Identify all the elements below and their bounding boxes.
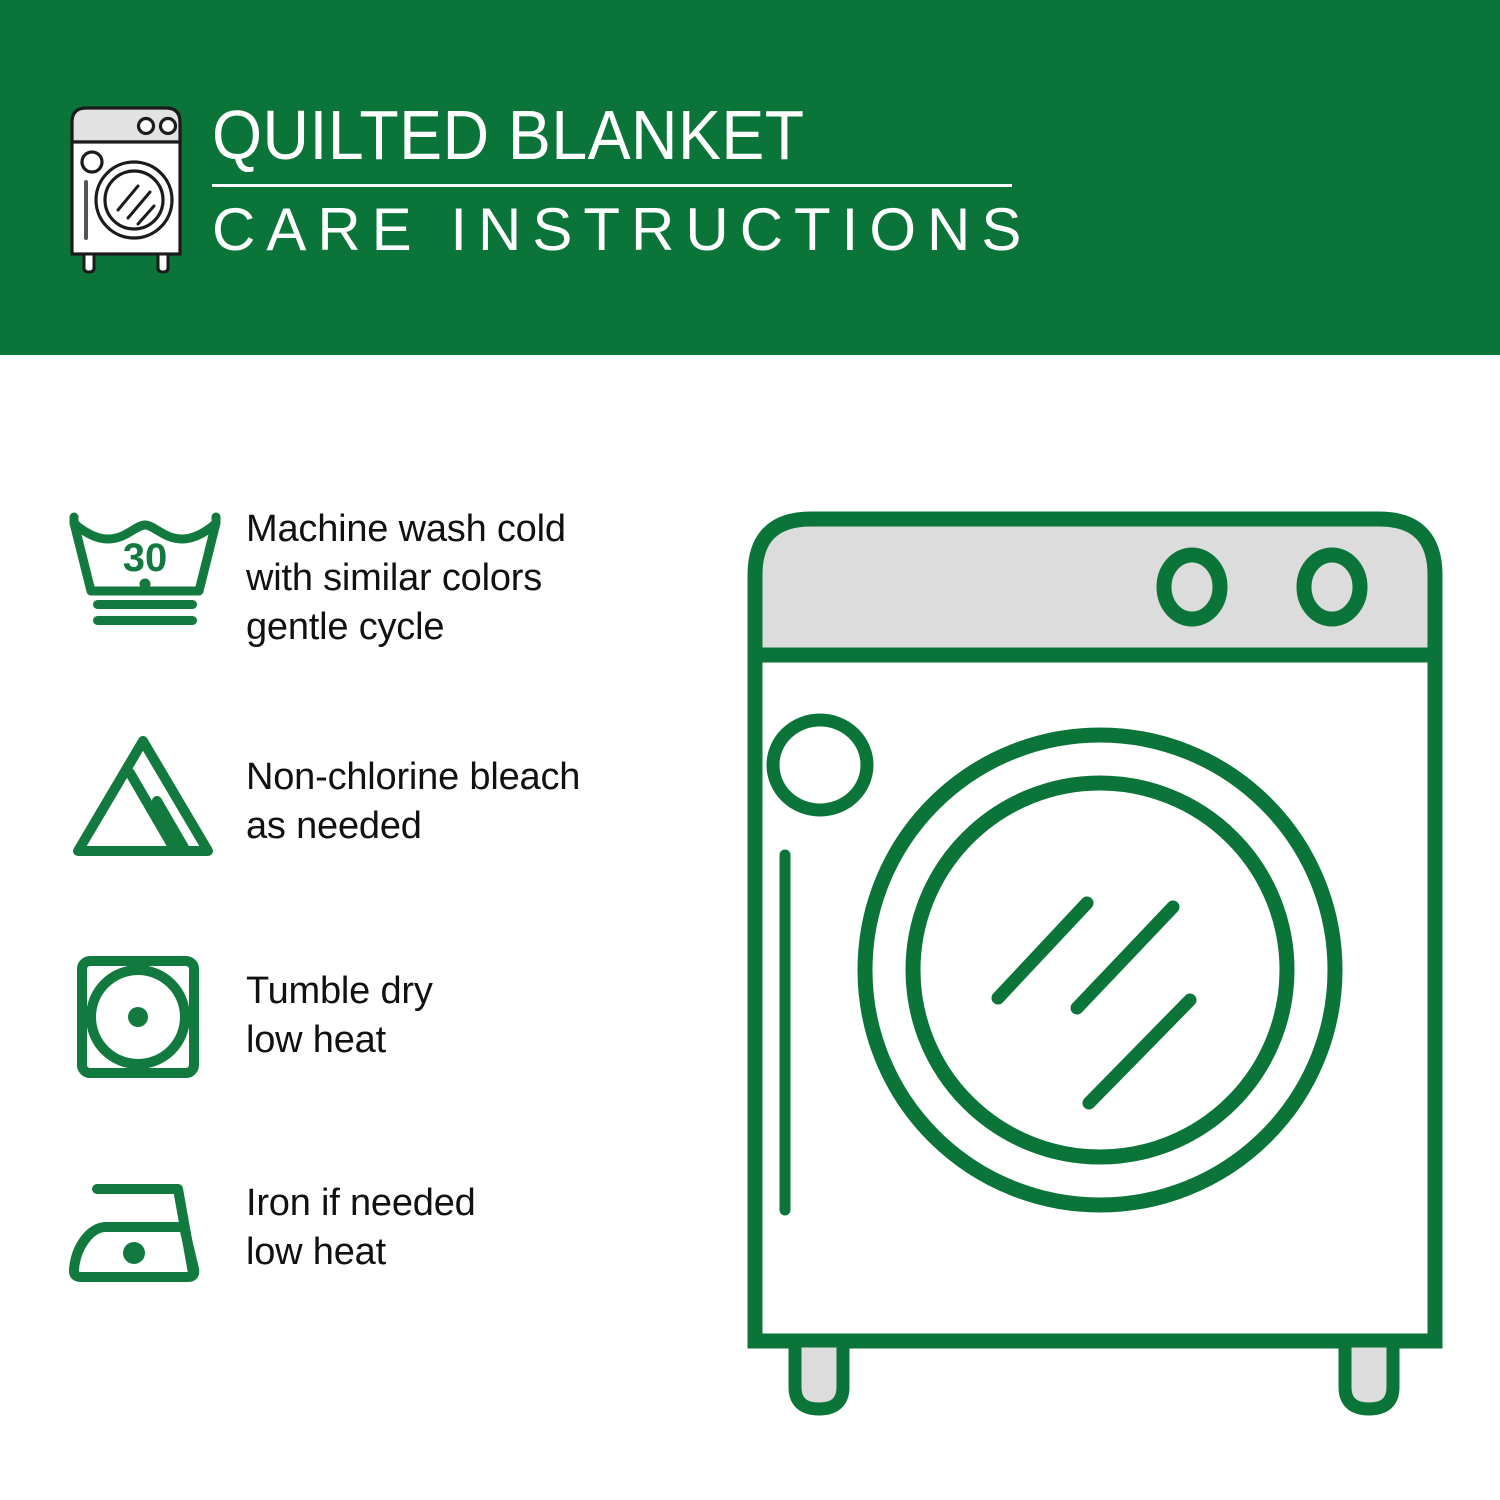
care-instruction-list: 30 Machine wash cold with similar colors… [60, 495, 720, 1367]
washing-machine-icon [62, 102, 190, 274]
page-subtitle: CARE INSTRUCTIONS [212, 195, 1032, 265]
knob-right [1304, 555, 1360, 619]
bleach-triangle-non-chlorine-icon [60, 713, 240, 867]
title-divider [212, 184, 1012, 187]
svg-text:30: 30 [123, 536, 168, 580]
care-line: low heat [246, 1016, 720, 1065]
care-line: gentle cycle [246, 603, 720, 652]
page-header: QUILTED BLANKET CARE INSTRUCTIONS [0, 0, 1500, 355]
care-line: Tumble dry [246, 967, 720, 1016]
care-item-iron-label: Iron if needed low heat [240, 1149, 720, 1277]
care-line: with similar colors [246, 554, 720, 603]
care-line: Non-chlorine bleach [246, 753, 720, 802]
care-line: Machine wash cold [246, 505, 720, 554]
care-item-wash-label: Machine wash cold with similar colors ge… [240, 495, 720, 652]
foot-left [795, 1341, 843, 1409]
care-line: low heat [246, 1228, 720, 1277]
care-item-iron: Iron if needed low heat [60, 1149, 720, 1367]
foot-right [1345, 1341, 1393, 1409]
care-item-tumble-dry-label: Tumble dry low heat [240, 931, 720, 1065]
knob-left [1164, 555, 1220, 619]
care-item-bleach-label: Non-chlorine bleach as needed [240, 713, 720, 851]
tumble-dry-low-heat-icon [60, 931, 240, 1085]
wash-tub-30-gentle-icon: 30 [60, 495, 240, 631]
care-line: Iron if needed [246, 1179, 720, 1228]
care-item-tumble-dry: Tumble dry low heat [60, 931, 720, 1149]
care-line: as needed [246, 802, 720, 851]
main-content: 30 Machine wash cold with similar colors… [0, 355, 1500, 1500]
washing-machine-illustration [735, 495, 1455, 1425]
header-content: QUILTED BLANKET CARE INSTRUCTIONS [62, 96, 1032, 274]
header-title-block: QUILTED BLANKET CARE INSTRUCTIONS [212, 96, 1032, 265]
care-item-wash: 30 Machine wash cold with similar colors… [60, 495, 720, 713]
page-title: QUILTED BLANKET [212, 96, 967, 174]
care-item-bleach: Non-chlorine bleach as needed [60, 713, 720, 931]
iron-low-heat-icon [60, 1149, 240, 1299]
detergent-cap [773, 720, 867, 810]
